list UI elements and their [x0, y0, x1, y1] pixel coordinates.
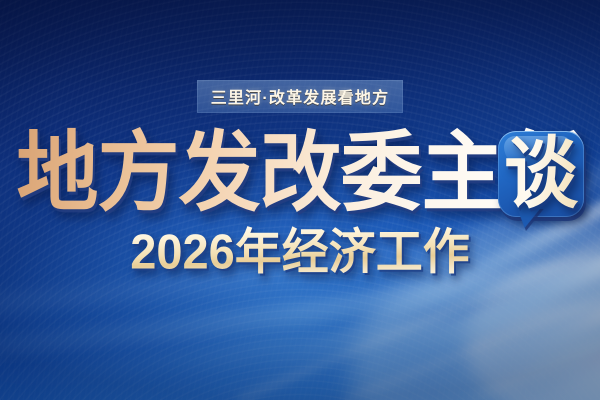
banner-content: 三里河·改革发展看地方 地方发改委主任 谈 2026年经济工作 — [0, 0, 600, 400]
headline-badge-char: 谈 — [496, 124, 586, 225]
tag-bar-wrapper: 三里河·改革发展看地方 — [0, 80, 600, 113]
subline-row: 2026年经济工作 — [0, 224, 600, 280]
series-tag-label: 三里河·改革发展看地方 — [211, 90, 390, 107]
headline-sub-text: 2026年经济工作 — [130, 224, 470, 280]
promo-banner: 三里河·改革发展看地方 地方发改委主任 谈 2026年经济工作 — [0, 0, 600, 400]
series-tag-bar: 三里河·改革发展看地方 — [197, 80, 404, 113]
